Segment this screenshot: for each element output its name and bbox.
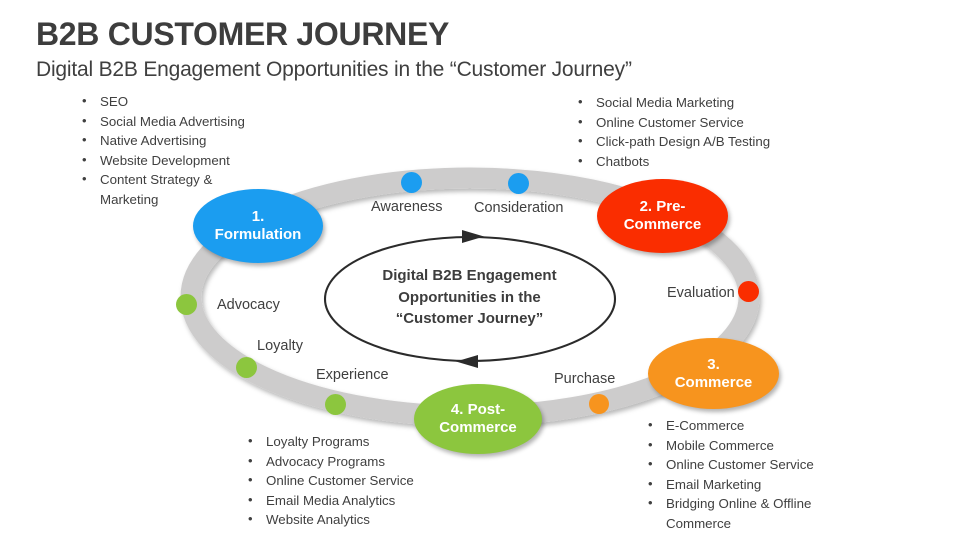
center-caption-line-3: “Customer Journey” [362,308,577,330]
phase-node-commerce-line-1: 3. [675,356,753,374]
stage-dot-loyalty [236,357,257,378]
phase-node-post-commerce[interactable]: 4. Post- Commerce [414,384,542,454]
stage-label-awareness: Awareness [371,199,442,215]
slide-canvas: B2B CUSTOMER JOURNEY Digital B2B Engagem… [0,0,960,540]
stage-label-consideration: Consideration [474,200,563,216]
center-caption: Digital B2B Engagement Opportunities in … [362,265,577,330]
stage-dot-consideration [508,173,529,194]
phase-node-commerce[interactable]: 3. Commerce [648,338,779,409]
stage-label-advocacy: Advocacy [217,297,280,313]
stage-label-loyalty: Loyalty [257,338,303,354]
center-caption-line-2: Opportunities in the [362,287,577,309]
stage-dot-evaluation [738,281,759,302]
stage-dot-experience [325,394,346,415]
phase-node-commerce-line-2: Commerce [675,374,753,392]
phase-node-formulation-line-2: Formulation [215,226,302,244]
phase-node-post-commerce-line-2: Commerce [439,419,517,437]
stage-label-evaluation: Evaluation [667,285,735,301]
phase-node-pre-commerce[interactable]: 2. Pre- Commerce [597,179,728,253]
stage-dot-advocacy [176,294,197,315]
phase-node-pre-commerce-line-2: Commerce [624,216,702,234]
phase-node-pre-commerce-line-1: 2. Pre- [624,198,702,216]
stage-label-purchase: Purchase [554,371,615,387]
stage-dot-purchase [589,394,609,414]
stage-label-experience: Experience [316,367,389,383]
phase-node-post-commerce-line-1: 4. Post- [439,401,517,419]
phase-node-formulation[interactable]: 1. Formulation [193,189,323,263]
stage-dot-awareness [401,172,422,193]
center-caption-line-1: Digital B2B Engagement [362,265,577,287]
phase-node-formulation-line-1: 1. [215,208,302,226]
customer-journey-diagram: Digital B2B Engagement Opportunities in … [0,0,960,540]
